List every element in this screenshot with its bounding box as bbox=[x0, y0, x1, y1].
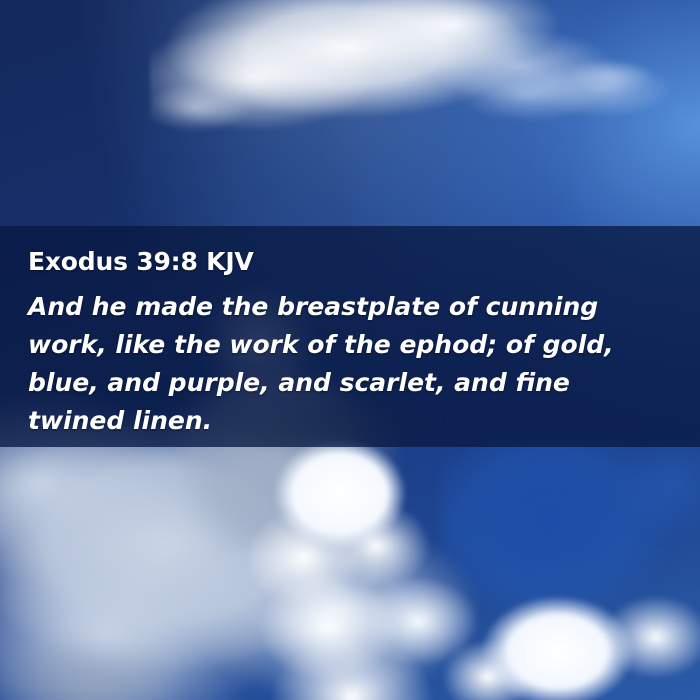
cumulus-cloud-right bbox=[430, 540, 700, 700]
verse-image-canvas: Exodus 39:8 KJV And he made the breastpl… bbox=[0, 0, 700, 700]
cirrus-cloud-wisp bbox=[430, 40, 680, 160]
cumulus-cloud-bottom-left bbox=[0, 600, 220, 700]
verse-reference: Exodus 39:8 KJV bbox=[28, 248, 674, 276]
verse-text: And he made the breastplate of cunning w… bbox=[28, 288, 674, 440]
verse-overlay-banner: Exodus 39:8 KJV And he made the breastpl… bbox=[0, 226, 700, 447]
